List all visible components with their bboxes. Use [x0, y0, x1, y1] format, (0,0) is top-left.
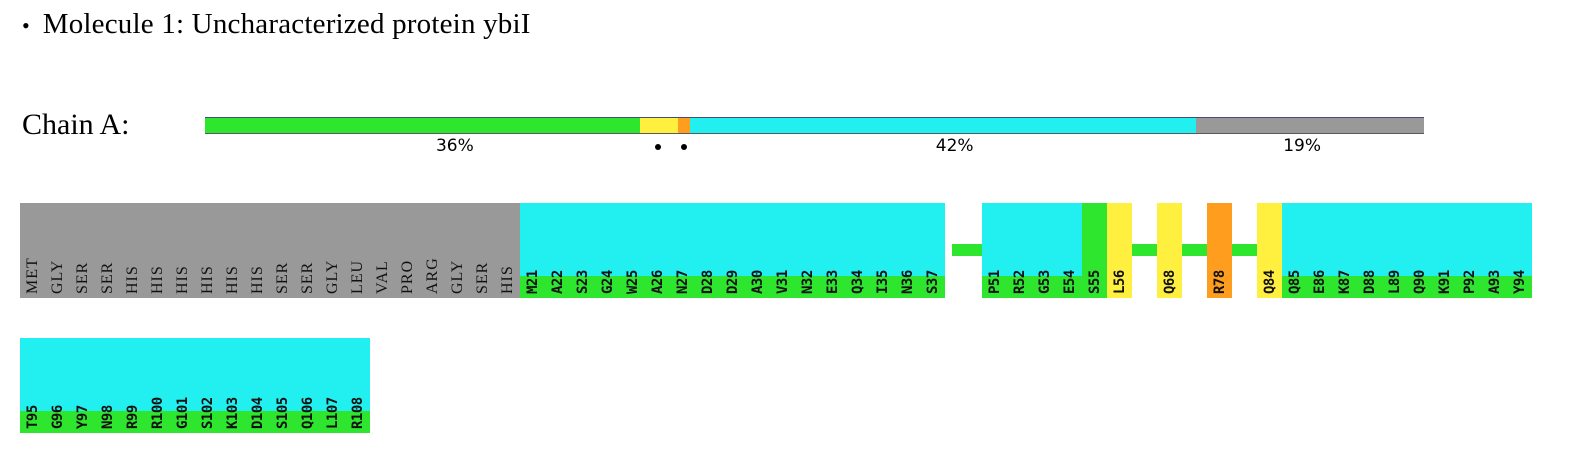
residue-label: G53: [1032, 203, 1057, 298]
residue-cell[interactable]: Q68: [1157, 203, 1182, 298]
residue-label: K87: [1332, 203, 1357, 298]
residue-cell[interactable]: G101: [170, 338, 195, 433]
residue-cell[interactable]: PRO: [395, 203, 420, 298]
residue-label: GLY: [45, 203, 70, 298]
residue-cell[interactable]: E54: [1057, 203, 1082, 298]
residue-block-4: R78: [1207, 203, 1232, 298]
chain-label: Chain A:: [22, 108, 130, 142]
residue-label: VAL: [370, 203, 395, 298]
green-segment[interactable]: [205, 118, 640, 133]
residue-label: SER: [470, 203, 495, 298]
residue-cell[interactable]: SER: [95, 203, 120, 298]
residue-cell[interactable]: N98: [95, 338, 120, 433]
residue-cell[interactable]: S102: [195, 338, 220, 433]
residue-cell[interactable]: A26: [645, 203, 670, 298]
residue-cell[interactable]: G96: [45, 338, 70, 433]
residue-cell[interactable]: SER: [295, 203, 320, 298]
residue-cell[interactable]: SER: [470, 203, 495, 298]
residue-label: S105: [270, 338, 295, 433]
residue-label: LEU: [345, 203, 370, 298]
residue-cell[interactable]: R52: [1007, 203, 1032, 298]
residue-label: Q84: [1257, 203, 1282, 298]
chain-connector-3: [1182, 244, 1207, 256]
residue-label: S102: [195, 338, 220, 433]
residue-cell[interactable]: L107: [320, 338, 345, 433]
residue-label: I35: [870, 203, 895, 298]
residue-cell[interactable]: N27: [670, 203, 695, 298]
residue-cell[interactable]: Q106: [295, 338, 320, 433]
residue-cell[interactable]: D29: [720, 203, 745, 298]
residue-cell[interactable]: A93: [1482, 203, 1507, 298]
residue-block-2: P51R52G53E54S55L56: [982, 203, 1132, 298]
residue-label: T95: [20, 338, 45, 433]
residue-label: L107: [320, 338, 345, 433]
residue-cell[interactable]: Q90: [1407, 203, 1432, 298]
residue-label: L56: [1107, 203, 1132, 298]
residue-cell[interactable]: HIS: [170, 203, 195, 298]
residue-label: PRO: [395, 203, 420, 298]
chain-percent-label: 42%: [936, 136, 974, 156]
residue-label: P92: [1457, 203, 1482, 298]
residue-cell[interactable]: S23: [570, 203, 595, 298]
residue-label: ARG: [420, 203, 445, 298]
residue-block-1: METGLYSERSERHISHISHISHISHISHISSERSERGLYL…: [20, 203, 945, 298]
residue-label: E86: [1307, 203, 1332, 298]
residue-label: HIS: [495, 203, 520, 298]
residue-cell[interactable]: N36: [895, 203, 920, 298]
residue-cell[interactable]: L56: [1107, 203, 1132, 298]
residue-block-5: Q84Q85E86K87D88L89Q90K91P92A93Y94: [1257, 203, 1532, 298]
chain-percent-label: 19%: [1283, 136, 1321, 156]
chain-summary: Chain A: 36%42%19%: [22, 104, 1442, 164]
residue-cell[interactable]: HIS: [245, 203, 270, 298]
residue-cell[interactable]: Y97: [70, 338, 95, 433]
residue-cell[interactable]: HIS: [120, 203, 145, 298]
residue-label: HIS: [245, 203, 270, 298]
residue-label: SER: [70, 203, 95, 298]
residue-cell[interactable]: W25: [620, 203, 645, 298]
residue-cell[interactable]: D104: [245, 338, 270, 433]
residue-label: A30: [745, 203, 770, 298]
bullet-icon: •: [22, 15, 30, 37]
residue-cell[interactable]: GLY: [445, 203, 470, 298]
molecule-title-text: Molecule 1: Uncharacterized protein ybiI: [43, 8, 531, 41]
residue-label: L89: [1382, 203, 1407, 298]
residue-cell[interactable]: R108: [345, 338, 370, 433]
residue-label: Q68: [1157, 203, 1182, 298]
residue-cell[interactable]: S37: [920, 203, 945, 298]
residue-cell[interactable]: P51: [982, 203, 1007, 298]
chain-connector-4: [1232, 244, 1257, 256]
chain-connector-2: [1132, 244, 1157, 256]
residue-cell[interactable]: SER: [70, 203, 95, 298]
residue-label: SER: [270, 203, 295, 298]
residue-label: Q106: [295, 338, 320, 433]
residue-label: Q85: [1282, 203, 1307, 298]
cyan-segment[interactable]: [690, 118, 1196, 133]
molecule-title: • Molecule 1: Uncharacterized protein yb…: [22, 8, 531, 41]
residue-label: M21: [520, 203, 545, 298]
residue-label: Q90: [1407, 203, 1432, 298]
residue-label: S37: [920, 203, 945, 298]
residue-label: K91: [1432, 203, 1457, 298]
residue-label: HIS: [195, 203, 220, 298]
residue-cell[interactable]: S105: [270, 338, 295, 433]
residue-cell[interactable]: GLY: [320, 203, 345, 298]
residue-cell[interactable]: R99: [120, 338, 145, 433]
residue-label: R78: [1207, 203, 1232, 298]
residue-cell[interactable]: K103: [220, 338, 245, 433]
residue-cell[interactable]: E86: [1307, 203, 1332, 298]
chain-marker-dot: [681, 144, 687, 150]
residue-label: D104: [245, 338, 270, 433]
residue-label: N32: [795, 203, 820, 298]
residue-label: E33: [820, 203, 845, 298]
residue-label: HIS: [145, 203, 170, 298]
residue-label: K103: [220, 338, 245, 433]
residue-label: N98: [95, 338, 120, 433]
residue-cell[interactable]: S55: [1082, 203, 1107, 298]
residue-label: S55: [1082, 203, 1107, 298]
residue-label: W25: [620, 203, 645, 298]
residue-cell[interactable]: K91: [1432, 203, 1457, 298]
residue-cell[interactable]: G53: [1032, 203, 1057, 298]
residue-label: MET: [20, 203, 45, 298]
residue-label: G96: [45, 338, 70, 433]
residue-label: A93: [1482, 203, 1507, 298]
residue-label: D88: [1357, 203, 1382, 298]
residue-label: S23: [570, 203, 595, 298]
chain-quality-bar[interactable]: [205, 117, 1424, 134]
residue-cell[interactable]: Y94: [1507, 203, 1532, 298]
residue-cell[interactable]: R100: [145, 338, 170, 433]
residue-cell[interactable]: D88: [1357, 203, 1382, 298]
chain-marker-dot: [655, 144, 661, 150]
chain-percent-labels: 36%42%19%: [205, 136, 1424, 162]
residue-cell[interactable]: R78: [1207, 203, 1232, 298]
residue-label: GLY: [445, 203, 470, 298]
residue-label: GLY: [320, 203, 345, 298]
residue-cell[interactable]: Q85: [1282, 203, 1307, 298]
residue-label: R108: [345, 338, 370, 433]
residue-cell[interactable]: VAL: [370, 203, 395, 298]
residue-label: Y97: [70, 338, 95, 433]
residue-cell[interactable]: LEU: [345, 203, 370, 298]
residue-cell[interactable]: T95: [20, 338, 45, 433]
residue-cell[interactable]: SER: [270, 203, 295, 298]
residue-label: D29: [720, 203, 745, 298]
residue-cell[interactable]: GLY: [45, 203, 70, 298]
residue-cell[interactable]: K87: [1332, 203, 1357, 298]
chain-percent-label: 36%: [436, 136, 474, 156]
residue-label: HIS: [220, 203, 245, 298]
yellow-segment[interactable]: [640, 118, 678, 133]
residue-label: Y94: [1507, 203, 1532, 298]
residue-cell[interactable]: A30: [745, 203, 770, 298]
residue-label: A26: [645, 203, 670, 298]
residue-cell[interactable]: HIS: [145, 203, 170, 298]
residue-label: P51: [982, 203, 1007, 298]
residue-cell[interactable]: G24: [595, 203, 620, 298]
orange-segment[interactable]: [678, 118, 690, 133]
residue-label: E54: [1057, 203, 1082, 298]
residue-cell[interactable]: D28: [695, 203, 720, 298]
residue-label: V31: [770, 203, 795, 298]
residue-cell[interactable]: I35: [870, 203, 895, 298]
residue-label: SER: [95, 203, 120, 298]
residue-label: HIS: [170, 203, 195, 298]
residue-cell[interactable]: HIS: [220, 203, 245, 298]
residue-cell[interactable]: HIS: [495, 203, 520, 298]
residue-block-6: T95G96Y97N98R99R100G101S102K103D104S105Q…: [20, 338, 370, 433]
residue-label: N27: [670, 203, 695, 298]
residue-label: HIS: [120, 203, 145, 298]
residue-label: N36: [895, 203, 920, 298]
residue-label: SER: [295, 203, 320, 298]
residue-label: R100: [145, 338, 170, 433]
residue-label: R99: [120, 338, 145, 433]
residue-cell[interactable]: N32: [795, 203, 820, 298]
residue-label: G24: [595, 203, 620, 298]
chain-connector-1: [952, 244, 982, 256]
residue-cell[interactable]: HIS: [195, 203, 220, 298]
residue-label: R52: [1007, 203, 1032, 298]
residue-cell[interactable]: Q34: [845, 203, 870, 298]
residue-block-3: Q68: [1157, 203, 1182, 298]
residue-cell[interactable]: A22: [545, 203, 570, 298]
residue-label: D28: [695, 203, 720, 298]
grey-segment[interactable]: [1196, 118, 1424, 133]
residue-cell[interactable]: MET: [20, 203, 45, 298]
residue-cell[interactable]: P92: [1457, 203, 1482, 298]
residue-cell[interactable]: L89: [1382, 203, 1407, 298]
residue-cell[interactable]: V31: [770, 203, 795, 298]
residue-cell[interactable]: Q84: [1257, 203, 1282, 298]
residue-label: G101: [170, 338, 195, 433]
residue-cell[interactable]: ARG: [420, 203, 445, 298]
residue-cell[interactable]: E33: [820, 203, 845, 298]
residue-cell[interactable]: M21: [520, 203, 545, 298]
residue-label: A22: [545, 203, 570, 298]
residue-label: Q34: [845, 203, 870, 298]
